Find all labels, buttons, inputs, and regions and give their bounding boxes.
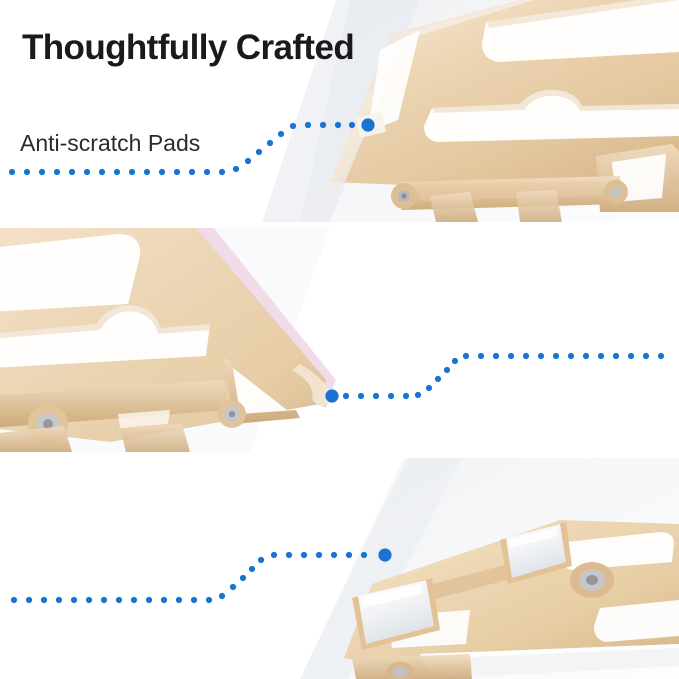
infographic-root: Thoughtfully Crafted Anti-scratch Pads u… (0, 0, 679, 679)
product-image-protective-hook (0, 458, 679, 679)
panel-anti-scratch-pads: Thoughtfully Crafted Anti-scratch Pads u… (0, 0, 679, 222)
page-title: Thoughtfully Crafted (22, 28, 354, 68)
brand-tagline: TECHNOLOGY INNOVATES LIFE (466, 162, 565, 172)
panel-smooth-edges: Smooth Edges (0, 228, 679, 452)
panel-divider-2 (0, 452, 679, 458)
brand-logo-text: urmust (465, 143, 530, 165)
callout-line-protective-hook (0, 458, 679, 679)
product-image-smooth-edges (0, 228, 679, 452)
panel-protective-hook: Protective Hook urmust (0, 458, 679, 679)
brand-logo: urmust TECHNOLOGY INNOVATES LIFE (465, 141, 565, 172)
callout-label-anti-scratch-pads: Anti-scratch Pads (20, 130, 200, 157)
panel-divider-1 (0, 222, 679, 228)
callout-line-smooth-edges (0, 228, 679, 452)
